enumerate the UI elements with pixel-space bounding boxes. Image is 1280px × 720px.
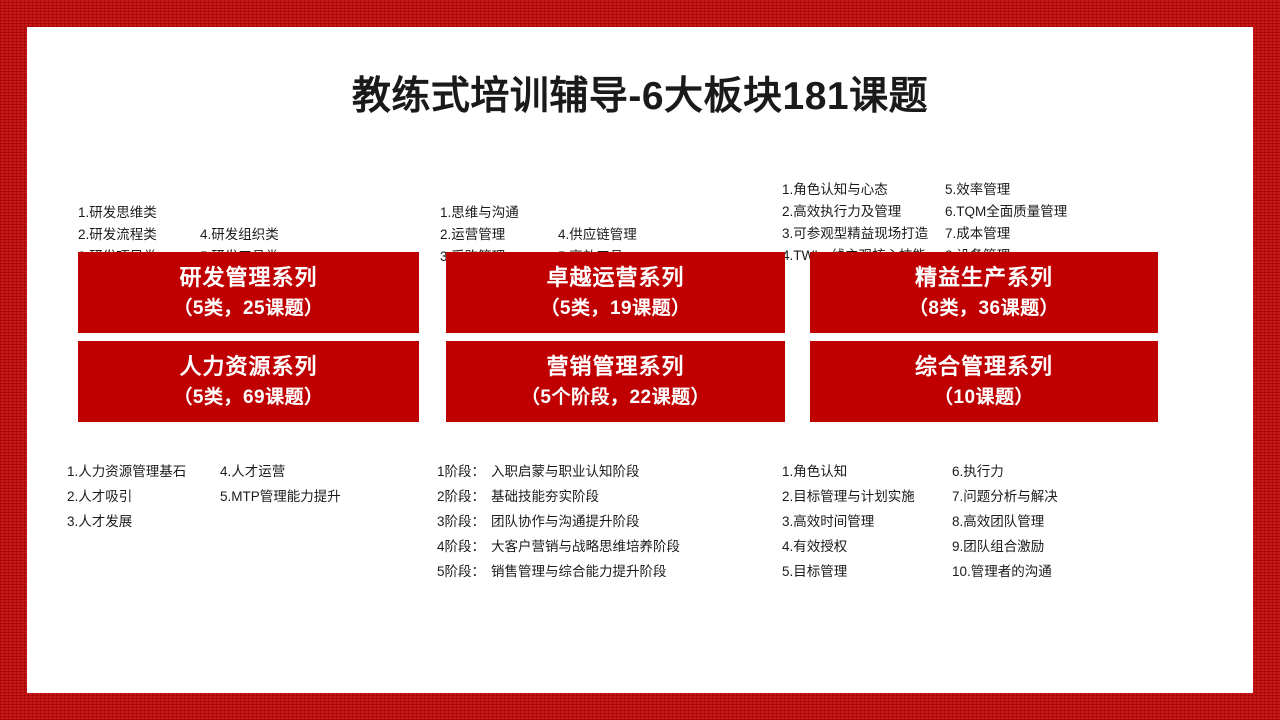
stage-text: 入职启蒙与职业认知阶段 — [491, 464, 640, 479]
series-box-rd[interactable]: 研发管理系列 （5类，25课题） — [78, 252, 419, 333]
stage-text: 基础技能夯实阶段 — [491, 489, 599, 504]
series-box-ops[interactable]: 卓越运营系列 （5类，19课题） — [446, 252, 785, 333]
stage-label: 2阶段： — [437, 484, 491, 509]
note-left: 3.人才发展 — [67, 509, 220, 534]
note-left: 2.研发流程类 — [78, 224, 200, 246]
note-right: 8.高效团队管理 — [952, 509, 1044, 534]
list-item: 2.人才吸引5.MTP管理能力提升 — [67, 484, 341, 509]
list-item: 2.运营管理4.供应链管理 — [440, 224, 637, 246]
list-item: 5阶段：销售管理与综合能力提升阶段 — [437, 559, 680, 584]
page-title: 教练式培训辅导-6大板块181课题 — [27, 65, 1253, 121]
note-left: 1.人力资源管理基石 — [67, 459, 220, 484]
note-right: 4.研发组织类 — [200, 224, 279, 246]
note-left: 1.思维与沟通 — [440, 202, 558, 224]
series-subtitle: （5类，69课题） — [173, 383, 323, 413]
list-item: 4.有效授权9.团队组合激励 — [782, 534, 1058, 559]
list-item: 1.角色认知6.执行力 — [782, 459, 1058, 484]
series-title: 卓越运营系列 — [546, 262, 684, 294]
list-item: 5.目标管理10.管理者的沟通 — [782, 559, 1058, 584]
note-right: 6.执行力 — [952, 459, 1004, 484]
stage-text: 团队协作与沟通提升阶段 — [491, 514, 640, 529]
note-left: 2.高效执行力及管理 — [782, 201, 945, 223]
series-title: 人力资源系列 — [179, 351, 317, 383]
list-item: 4阶段：大客户营销与战略思维培养阶段 — [437, 534, 680, 559]
series-subtitle: （5类，19课题） — [540, 294, 690, 324]
series-subtitle: （5类，25课题） — [173, 294, 323, 324]
stage-label: 3阶段： — [437, 509, 491, 534]
note-left: 3.可参观型精益现场打造 — [782, 223, 945, 245]
list-item: 3阶段：团队协作与沟通提升阶段 — [437, 509, 680, 534]
slide-canvas: 教练式培训辅导-6大板块181课题 1.研发思维类 2.研发流程类4.研发组织类… — [27, 27, 1253, 693]
note-left: 5.目标管理 — [782, 559, 952, 584]
series-subtitle: （8类，36课题） — [909, 294, 1059, 324]
note-left: 4.有效授权 — [782, 534, 952, 559]
list-item: 1.思维与沟通 — [440, 202, 637, 224]
series-title: 综合管理系列 — [915, 351, 1053, 383]
note-right: 5.效率管理 — [945, 179, 1010, 201]
note-right: 7.问题分析与解决 — [952, 484, 1058, 509]
list-item: 1阶段：入职启蒙与职业认知阶段 — [437, 459, 680, 484]
note-left: 1.角色认知与心态 — [782, 179, 945, 201]
notes-list-marketing: 1阶段：入职启蒙与职业认知阶段 2阶段：基础技能夯实阶段 3阶段：团队协作与沟通… — [437, 459, 680, 584]
slide-frame: 教练式培训辅导-6大板块181课题 1.研发思维类 2.研发流程类4.研发组织类… — [0, 0, 1280, 720]
stage-label: 4阶段： — [437, 534, 491, 559]
list-item: 2.研发流程类4.研发组织类 — [78, 224, 279, 246]
note-left: 3.高效时间管理 — [782, 509, 952, 534]
note-left: 1.研发思维类 — [78, 202, 200, 224]
stage-text: 大客户营销与战略思维培养阶段 — [491, 539, 680, 554]
list-item: 3.可参观型精益现场打造7.成本管理 — [782, 223, 1067, 245]
list-item: 3.高效时间管理8.高效团队管理 — [782, 509, 1058, 534]
series-box-general[interactable]: 综合管理系列 （10课题） — [810, 341, 1158, 422]
note-right: 6.TQM全面质量管理 — [945, 201, 1067, 223]
series-subtitle: （10课题） — [934, 383, 1034, 413]
list-item: 2.目标管理与计划实施7.问题分析与解决 — [782, 484, 1058, 509]
note-right: 4.人才运营 — [220, 459, 285, 484]
note-right: 10.管理者的沟通 — [952, 559, 1052, 584]
series-subtitle: （5个阶段，22课题） — [521, 383, 710, 413]
notes-list-hr: 1.人力资源管理基石4.人才运营 2.人才吸引5.MTP管理能力提升 3.人才发… — [67, 459, 341, 534]
list-item: 1.人力资源管理基石4.人才运营 — [67, 459, 341, 484]
note-right: 9.团队组合激励 — [952, 534, 1044, 559]
list-item: 3.人才发展 — [67, 509, 341, 534]
list-item: 2阶段：基础技能夯实阶段 — [437, 484, 680, 509]
note-left: 2.运营管理 — [440, 224, 558, 246]
note-left: 1.角色认知 — [782, 459, 952, 484]
stage-text: 销售管理与综合能力提升阶段 — [491, 564, 667, 579]
stage-label: 1阶段： — [437, 459, 491, 484]
list-item: 1.研发思维类 — [78, 202, 279, 224]
list-item: 1.角色认知与心态5.效率管理 — [782, 179, 1067, 201]
series-box-lean[interactable]: 精益生产系列 （8类，36课题） — [810, 252, 1158, 333]
notes-list-general: 1.角色认知6.执行力 2.目标管理与计划实施7.问题分析与解决 3.高效时间管… — [782, 459, 1058, 584]
list-item: 2.高效执行力及管理6.TQM全面质量管理 — [782, 201, 1067, 223]
series-title: 营销管理系列 — [546, 351, 684, 383]
note-right: 7.成本管理 — [945, 223, 1010, 245]
series-box-hr[interactable]: 人力资源系列 （5类，69课题） — [78, 341, 419, 422]
stage-label: 5阶段： — [437, 559, 491, 584]
series-title: 研发管理系列 — [179, 262, 317, 294]
note-right: 5.MTP管理能力提升 — [220, 484, 341, 509]
note-left: 2.人才吸引 — [67, 484, 220, 509]
series-box-marketing[interactable]: 营销管理系列 （5个阶段，22课题） — [446, 341, 785, 422]
note-left: 2.目标管理与计划实施 — [782, 484, 952, 509]
note-right: 4.供应链管理 — [558, 224, 637, 246]
series-title: 精益生产系列 — [915, 262, 1053, 294]
